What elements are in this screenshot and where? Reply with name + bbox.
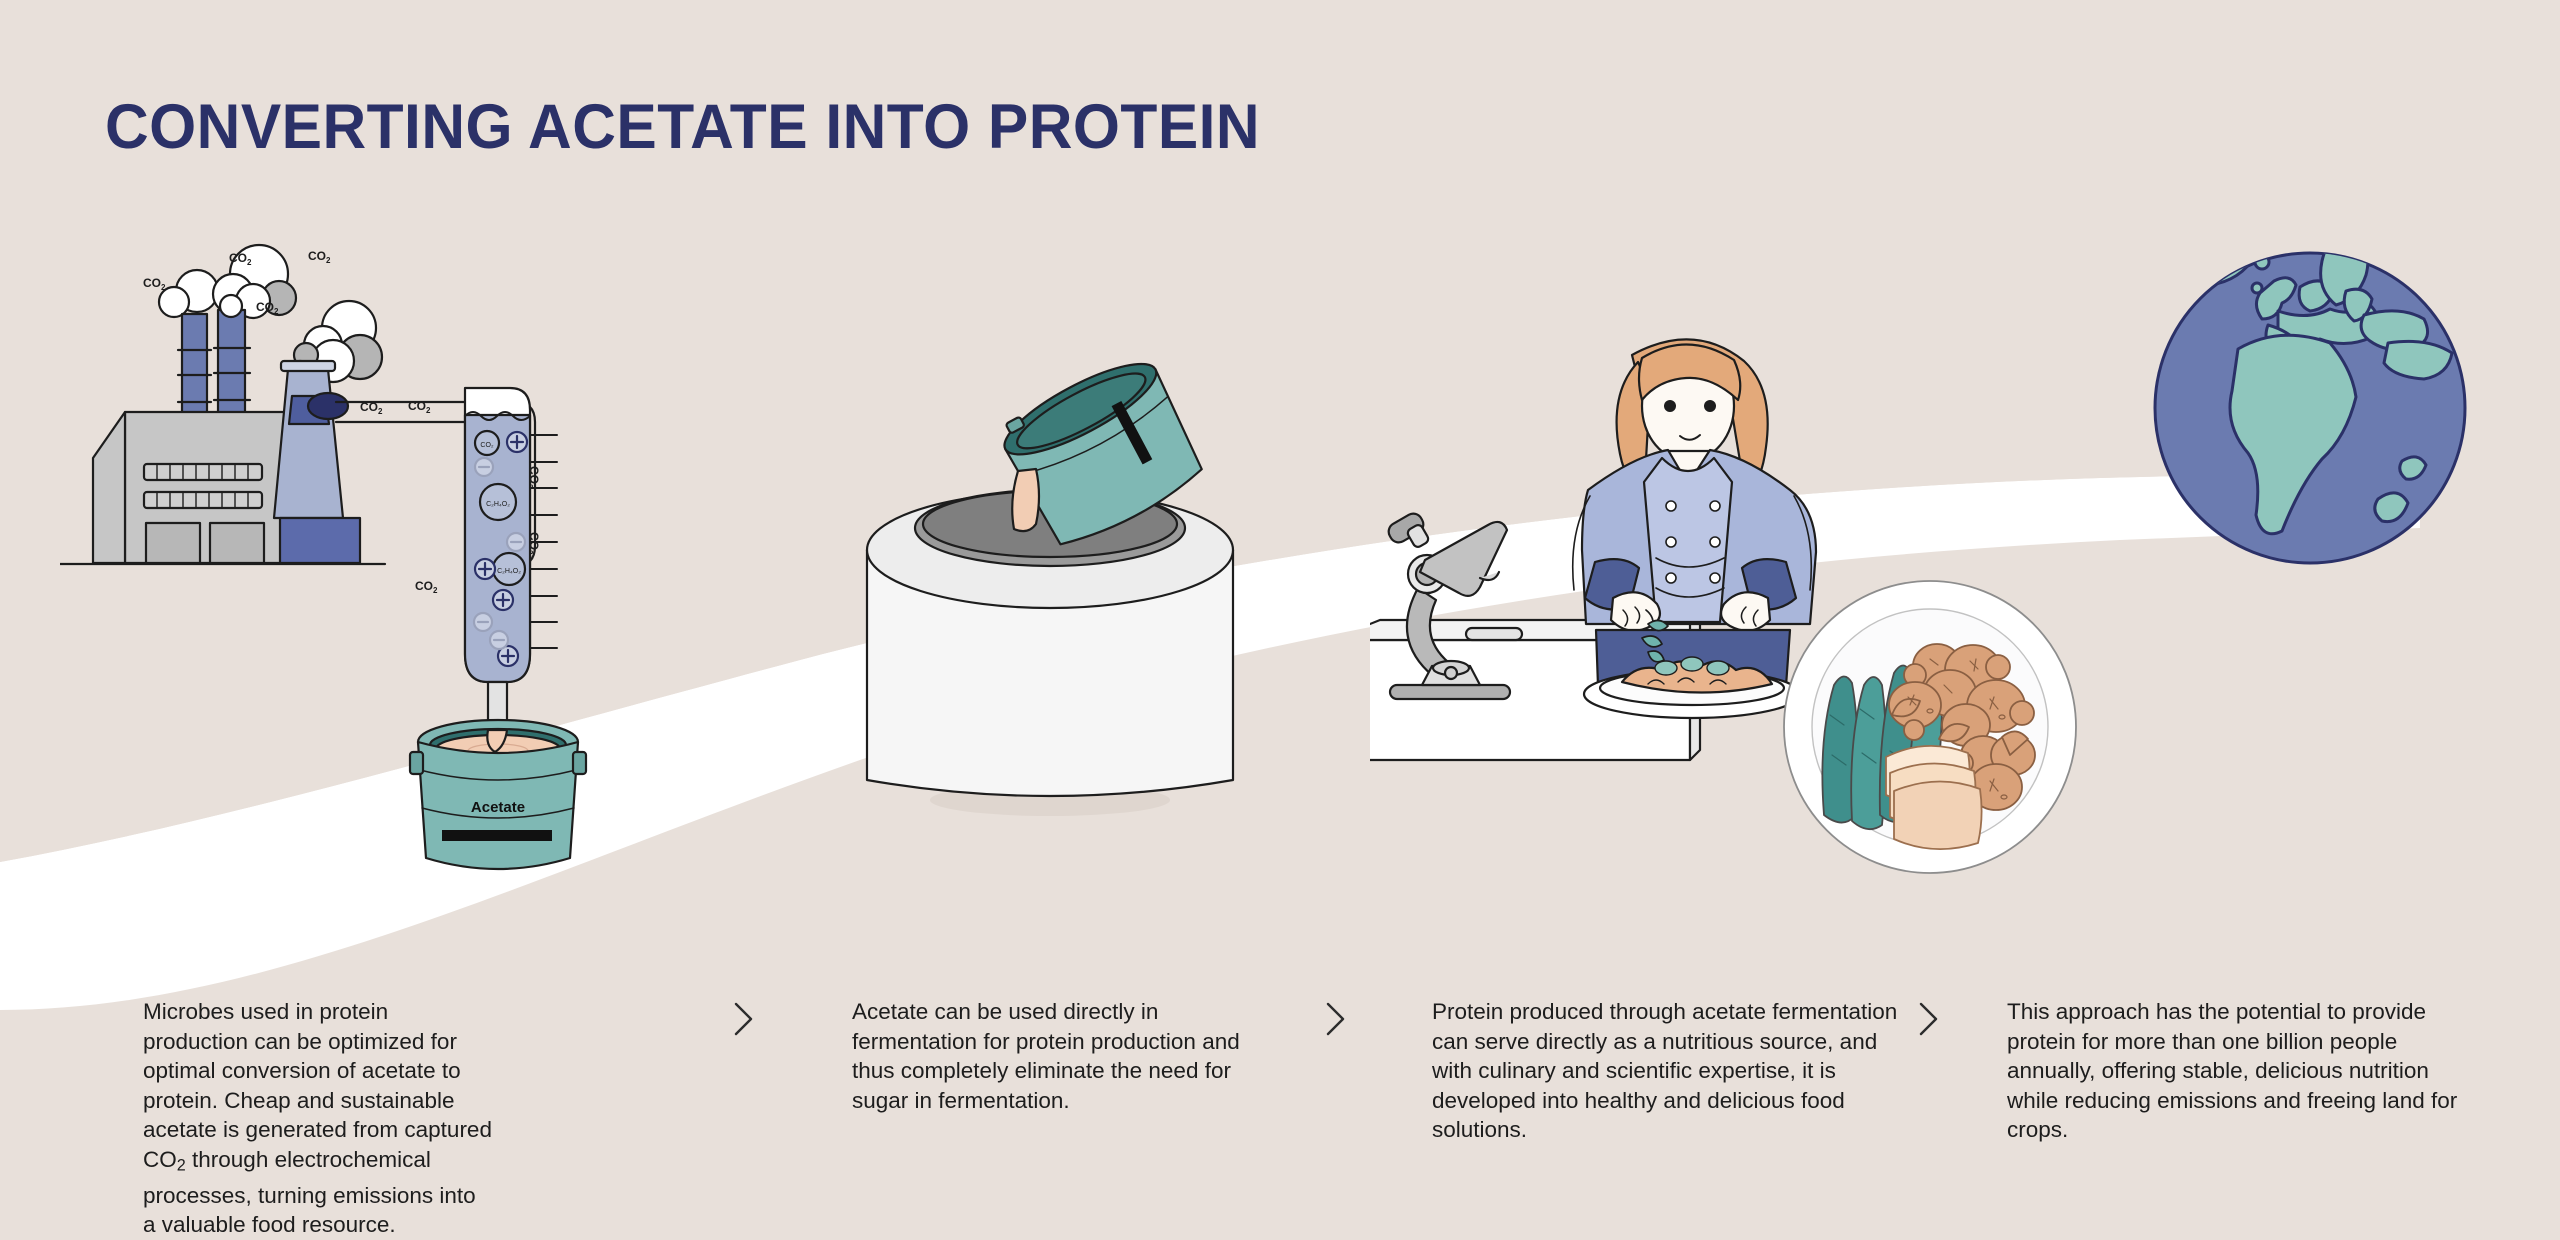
acetate-bucket-label: Acetate — [471, 799, 525, 816]
electrolyzer-tube: CO₂ C₂H₄O₂ C₂H₄O₂ — [465, 388, 557, 730]
illustration-fermentation-tank — [840, 360, 1260, 830]
illustration-plate-of-food — [1780, 575, 2080, 885]
step-caption-3: Protein produced through acetate ferment… — [1432, 997, 1912, 1145]
acetate-stream — [1012, 469, 1039, 531]
illustration-globe — [2150, 245, 2470, 575]
infographic-canvas: CONVERTING ACETATE INTO PROTEIN — [0, 0, 2560, 1225]
cooling-tower — [274, 361, 360, 563]
step-separator-chevron-1 — [728, 996, 758, 1042]
step-caption-1: Microbes used in protein production can … — [143, 997, 493, 1240]
svg-text:C₂H₄O₂: C₂H₄O₂ — [486, 501, 510, 508]
factory-building — [93, 412, 285, 563]
acetate-bucket: Acetate — [410, 720, 586, 869]
step-caption-4: This approach has the potential to provi… — [2007, 997, 2477, 1145]
svg-text:C₂H₄O₂: C₂H₄O₂ — [497, 568, 521, 575]
svg-text:CO2: CO2 — [143, 276, 166, 292]
step-separator-chevron-3 — [1913, 996, 1943, 1042]
step-separator-chevron-2 — [1320, 996, 1350, 1042]
svg-text:CO2: CO2 — [415, 579, 438, 595]
illustration-factory-electrolyzer: CO2 CO2 CO2 CO2 CO2 CO2 CO2 CO2 CO2 — [60, 230, 700, 910]
step-caption-2: Acetate can be used directly in fermenta… — [852, 997, 1252, 1115]
bread-slices — [1886, 746, 1982, 849]
svg-text:CO₂: CO₂ — [480, 442, 494, 449]
svg-text:CO2: CO2 — [308, 249, 331, 265]
page-title: CONVERTING ACETATE INTO PROTEIN — [105, 96, 1260, 159]
